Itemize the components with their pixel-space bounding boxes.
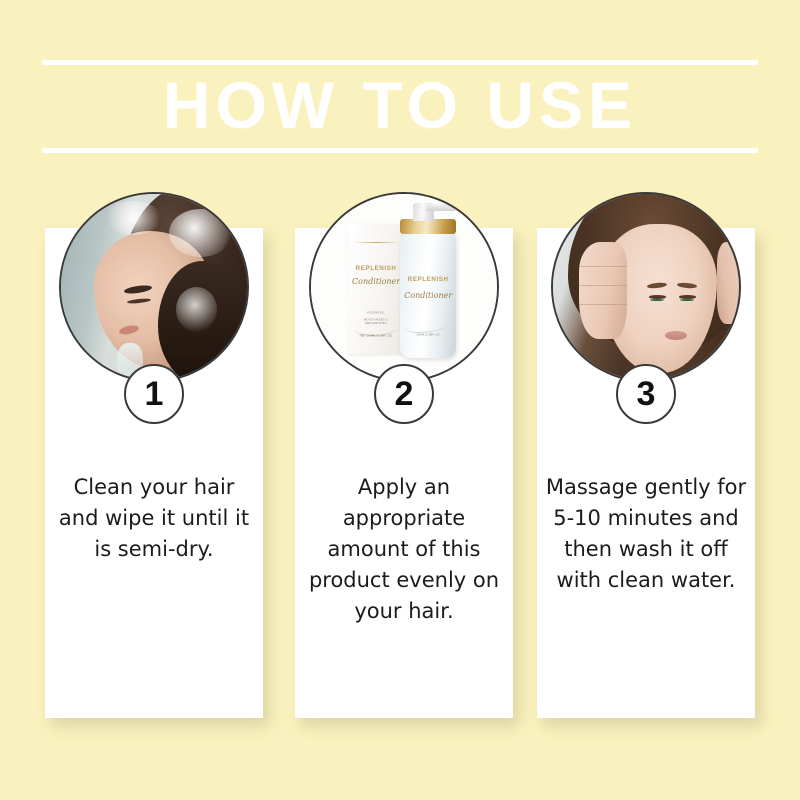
bottle-pump-nozzle [426,204,456,211]
step-number-badge-2: 2 [374,364,434,424]
box-net-contents-label: NET 100ML/3.38FL.OZ [356,334,396,338]
title-divider-bottom [42,148,758,153]
woman-washing-hair-photo [59,192,249,382]
step-card-1: 1 Clean your hair and wipe it until it i… [45,228,263,718]
massage-scene-illustration [553,194,739,380]
step-caption-1: Clean your hair and wipe it until it is … [53,472,255,565]
eyeliner-right-shape [680,299,694,301]
box-gold-rule [353,242,400,243]
steps-row: 1 Clean your hair and wipe it until it i… [0,228,800,728]
eyebrow-left-shape [647,282,667,289]
box-benefit-line-1: HYDRATES, [356,310,396,314]
foam-highlight-a [169,209,232,257]
step-card-3: 3 Massage gently for 5-10 minutes and th… [537,228,755,718]
bottle-brand-label: REPLENISH [400,276,456,283]
lips-shape [118,324,139,336]
page-title: HOW TO USE [0,68,800,142]
eyebrow-right-shape [677,282,697,289]
eyeliner-left-shape [650,299,664,301]
finger-crease-2 [579,285,627,286]
step-3-photo-wrap [551,192,741,382]
foam-highlight-c [176,287,217,332]
shower-scene-illustration [61,194,247,380]
page-header: HOW TO USE [0,0,800,180]
lips-shape [665,331,687,340]
box-brand-label: REPLENISH [348,265,404,272]
foam-highlight-b [106,201,162,234]
step-number-badge-1: 1 [124,364,184,424]
finger-crease-1 [579,266,627,267]
hand-right-shape [717,242,741,324]
step-1-photo-wrap [59,192,249,382]
bottle-gold-collar [400,219,456,234]
finger-crease-3 [579,304,627,305]
eye-shape [127,297,152,304]
step-2-photo-wrap: REPLENISH Conditioner HYDRATES, MOISTURI… [309,192,499,382]
step-number-badge-3: 3 [616,364,676,424]
title-divider-top [42,60,758,65]
conditioner-bottle-and-box-photo: REPLENISH Conditioner HYDRATES, MOISTURI… [309,192,499,382]
step-card-2: REPLENISH Conditioner HYDRATES, MOISTURI… [295,228,513,718]
bottle-net-contents-label: 100ML/3.38FL.OZ [408,332,448,336]
woman-massaging-scalp-photo [551,192,741,382]
step-caption-3: Massage gently for 5-10 minutes and then… [545,472,747,596]
bottle-product-type-label: Conditioner [400,291,456,300]
product-illustration: REPLENISH Conditioner HYDRATES, MOISTURI… [311,194,497,380]
box-product-type-label: Conditioner [348,277,404,286]
product-box: REPLENISH Conditioner HYDRATES, MOISTURI… [348,224,404,354]
eyebrow-shape [124,284,152,295]
step-caption-2: Apply an appropriate amount of this prod… [303,472,505,627]
hand-left-shape [579,242,627,339]
